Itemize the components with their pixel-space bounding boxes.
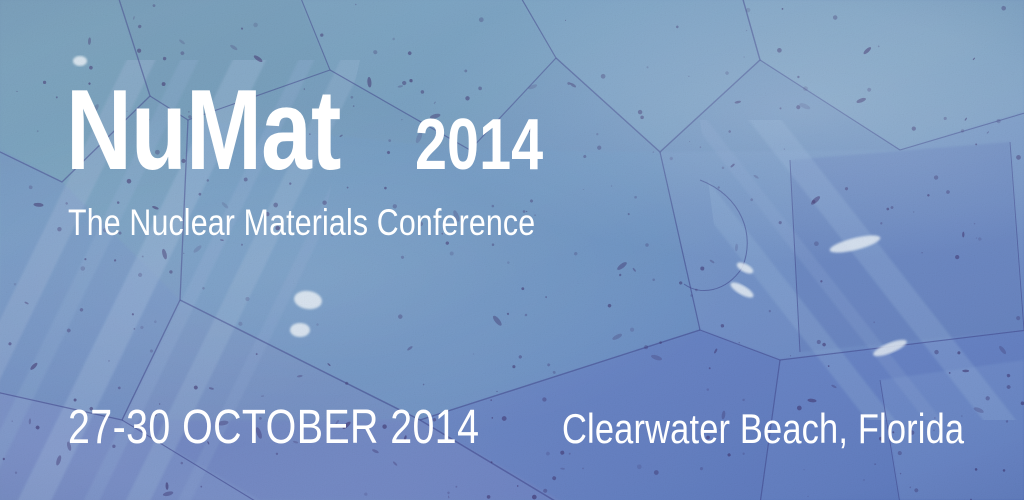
banner-content: NuMat 2014 The Nuclear Materials Confere… [0,0,1024,500]
numat-2014-banner: NuMat 2014 The Nuclear Materials Confere… [0,0,1024,500]
conference-subtitle: The Nuclear Materials Conference [68,204,535,241]
event-details: 27-30 OCTOBER 2014 Clearwater Beach, Flo… [68,400,1024,455]
event-dates: 27-30 OCTOBER 2014 [68,400,479,455]
title-year: 2014 [415,109,543,181]
title-brand: NuMat [66,74,341,188]
conference-title: NuMat 2014 [66,74,575,188]
event-location: Clearwater Beach, Florida [562,405,964,453]
